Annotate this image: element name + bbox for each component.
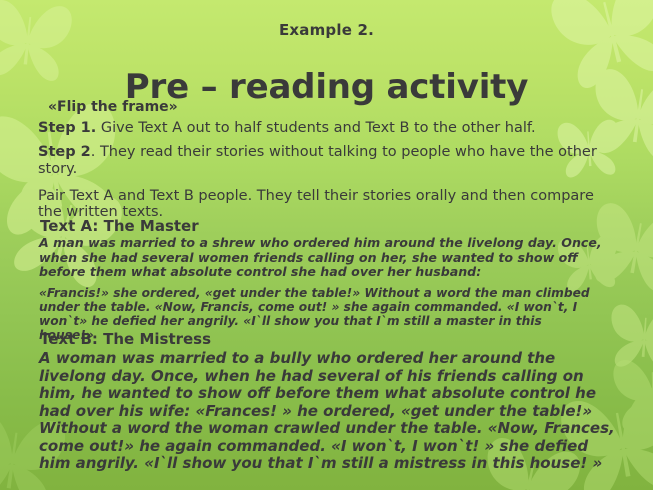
text-a-body: A man was married to a shrew who ordered… [39, 236, 617, 280]
text-b-heading: Text B: The Mistress [40, 330, 211, 348]
presentation-slide: Example 2. Pre – reading activity «Flip … [0, 0, 653, 490]
steps-list: Step 1. Give Text A out to half students… [38, 120, 618, 220]
example-label: Example 2. [0, 21, 653, 39]
step-item: Step 2. They read their stories without … [38, 144, 618, 178]
text-b-body: A woman was married to a bully who order… [39, 350, 619, 473]
pair-instruction: Pair Text A and Text B people. They tell… [38, 188, 618, 220]
text-a-heading: Text A: The Master [40, 217, 199, 235]
step-label: Step 1. [38, 120, 96, 136]
slide-content: Example 2. Pre – reading activity «Flip … [0, 0, 653, 490]
step-text: . They read their stories without talkin… [38, 144, 597, 177]
flip-the-frame-heading: «Flip the frame» [48, 99, 178, 115]
step-item: Step 1. Give Text A out to half students… [38, 120, 618, 137]
step-text: Give Text A out to half students and Tex… [96, 120, 535, 136]
step-label: Step 2 [38, 144, 91, 160]
